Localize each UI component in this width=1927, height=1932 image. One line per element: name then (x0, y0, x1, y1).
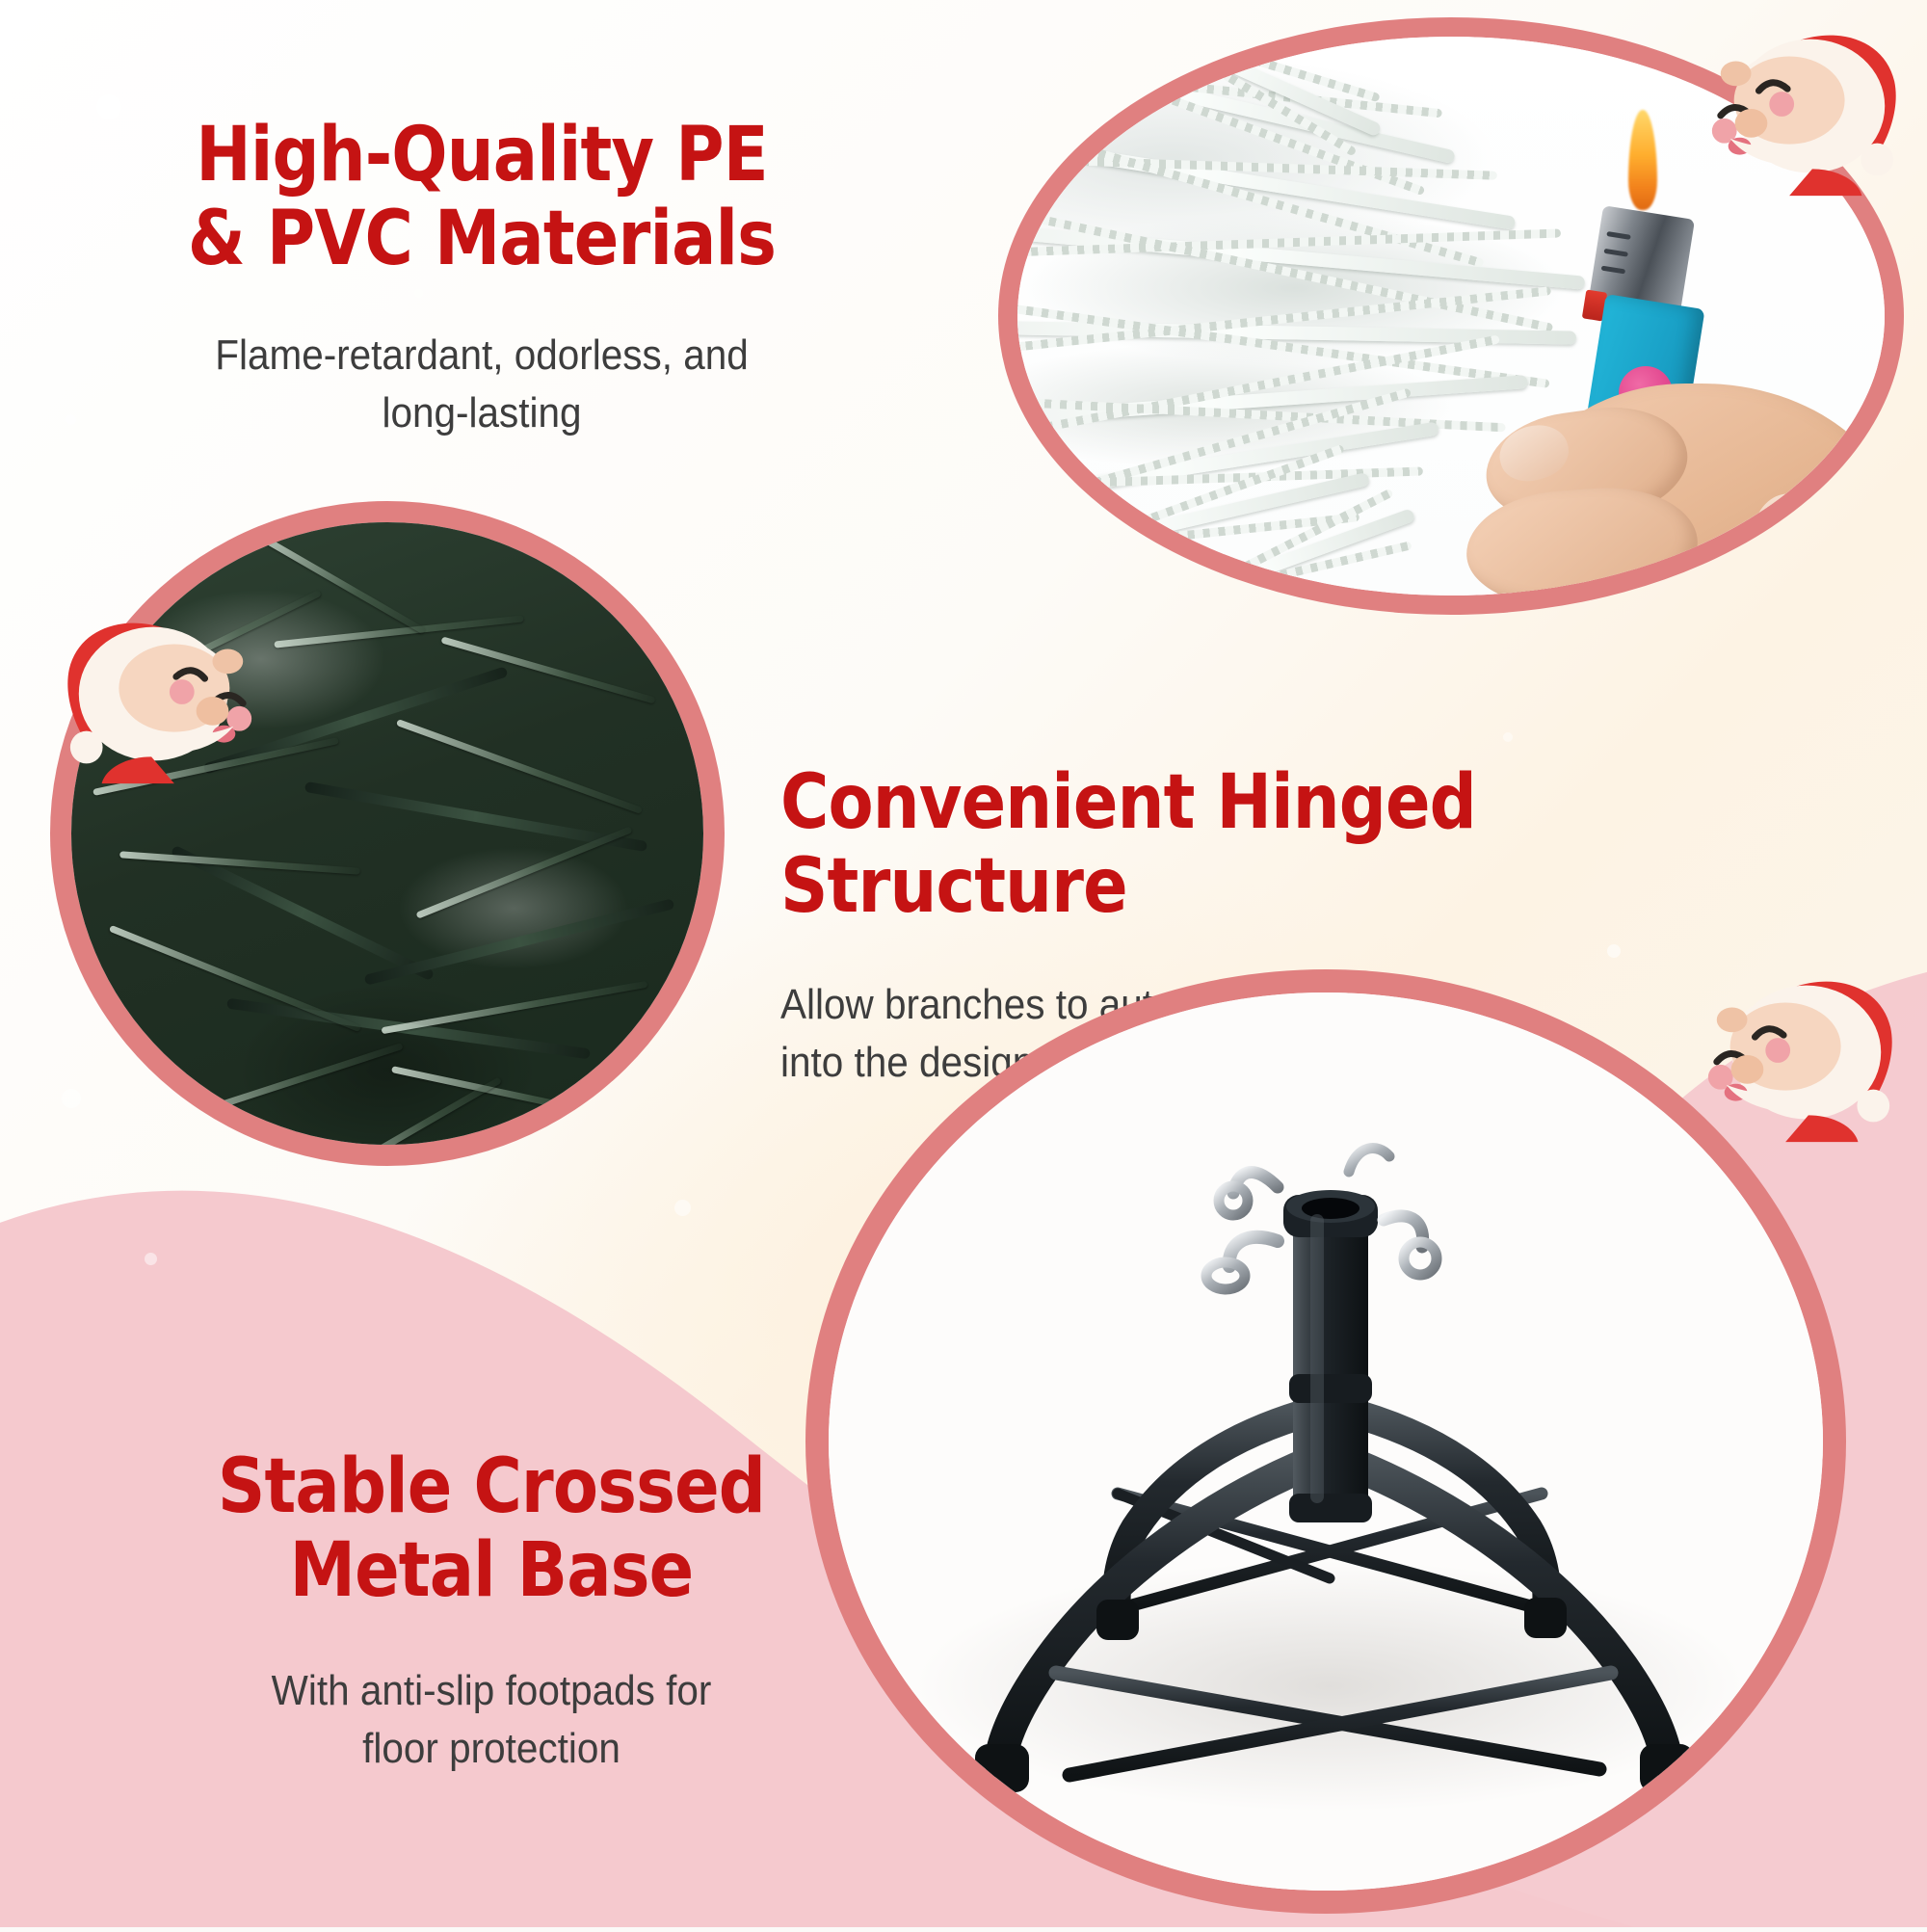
lighter-flame (1628, 110, 1657, 210)
feature-title-materials: High-Quality PE & PVC Materials (160, 114, 805, 282)
santa-face-icon (1694, 969, 1904, 1143)
snow-speck (145, 1253, 157, 1265)
feature-block-materials: High-Quality PE & PVC Materials Flame-re… (116, 114, 848, 443)
snow-speck (66, 414, 76, 425)
feature-desc-metal-base: With anti-slip footpads for floor protec… (164, 1662, 820, 1779)
snow-speck (1607, 944, 1621, 958)
photo-metal-stand (829, 992, 1823, 1891)
snow-speck (674, 1200, 691, 1216)
feature-title-hinged: Convenient Hinged Structure (780, 761, 1484, 930)
santa-face-icon (56, 611, 266, 784)
feature-title-metal-base: Stable Crossed Metal Base (177, 1445, 805, 1614)
snow-speck (1503, 732, 1513, 742)
metal-tree-stand-photo (829, 992, 1823, 1891)
santa-face-icon (1698, 23, 1908, 197)
feature-desc-materials: Flame-retardant, odorless, and long-last… (145, 327, 818, 443)
photo-oval-metal-base (805, 969, 1846, 1914)
photo-oval-hinged (50, 501, 725, 1166)
feature-block-metal-base: Stable Crossed Metal Base With anti-slip… (135, 1445, 848, 1779)
